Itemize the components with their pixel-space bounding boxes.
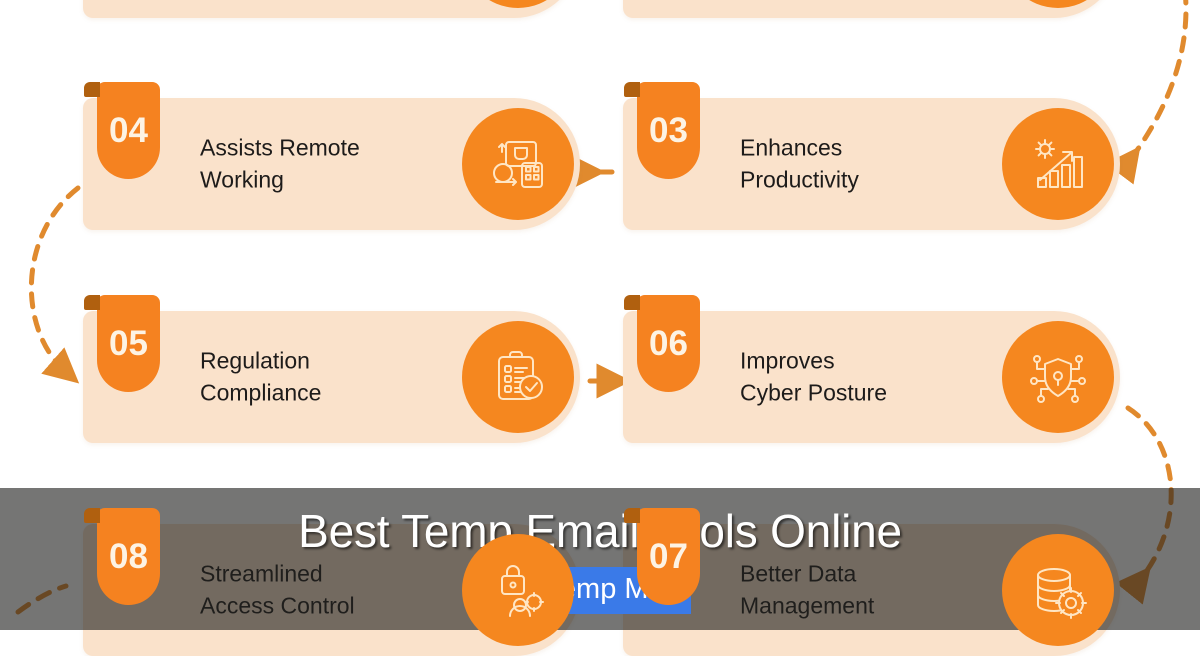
card-number-text: 03 bbox=[649, 113, 688, 148]
productivity-chart-icon bbox=[1002, 108, 1114, 220]
badge-fold bbox=[624, 295, 640, 310]
partial-card-icon bbox=[462, 0, 574, 8]
badge-fold bbox=[624, 508, 640, 523]
card-title: Improves Cyber Posture bbox=[740, 345, 887, 408]
card-03[interactable]: 03 Enhances Productivity bbox=[623, 98, 1120, 230]
card-number-badge-03: 03 bbox=[637, 82, 700, 179]
badge-fold bbox=[84, 508, 100, 523]
connector-04-to-05 bbox=[31, 188, 78, 372]
card-title: Regulation Compliance bbox=[200, 345, 321, 408]
card-02[interactable]: 02 bbox=[83, 0, 580, 18]
card-number-text: 07 bbox=[649, 539, 688, 574]
card-number-text: 04 bbox=[109, 113, 148, 148]
page-title: Best Temp Email Tools Online bbox=[298, 507, 902, 555]
card-title: Enhances Productivity bbox=[740, 132, 859, 195]
card-01[interactable]: 01 bbox=[623, 0, 1120, 18]
badge-fold bbox=[84, 295, 100, 310]
card-number-badge-07: 07 bbox=[637, 508, 700, 605]
badge-fold bbox=[84, 82, 100, 97]
card-title: Assists Remote Working bbox=[200, 132, 360, 195]
card-05[interactable]: 05 Regulation Compliance bbox=[83, 311, 580, 443]
shield-network-icon bbox=[1002, 321, 1114, 433]
clipboard-check-icon bbox=[462, 321, 574, 433]
database-gear-icon bbox=[1002, 534, 1114, 646]
connector-01-to-03 bbox=[1130, 0, 1186, 160]
card-number-text: 06 bbox=[649, 326, 688, 361]
badge-fold bbox=[624, 82, 640, 97]
partial-card-icon bbox=[1002, 0, 1114, 8]
access-control-icon bbox=[462, 534, 574, 646]
remote-working-icon bbox=[462, 108, 574, 220]
card-number-text: 05 bbox=[109, 326, 148, 361]
card-number-badge-05: 05 bbox=[97, 295, 160, 392]
card-number-badge-06: 06 bbox=[637, 295, 700, 392]
card-number-text: 08 bbox=[109, 539, 148, 574]
card-06[interactable]: 06 Improves Cyber Posture bbox=[623, 311, 1120, 443]
card-number-badge-04: 04 bbox=[97, 82, 160, 179]
card-04[interactable]: 04 Assists Remote Working bbox=[83, 98, 580, 230]
card-number-badge-08: 08 bbox=[97, 508, 160, 605]
